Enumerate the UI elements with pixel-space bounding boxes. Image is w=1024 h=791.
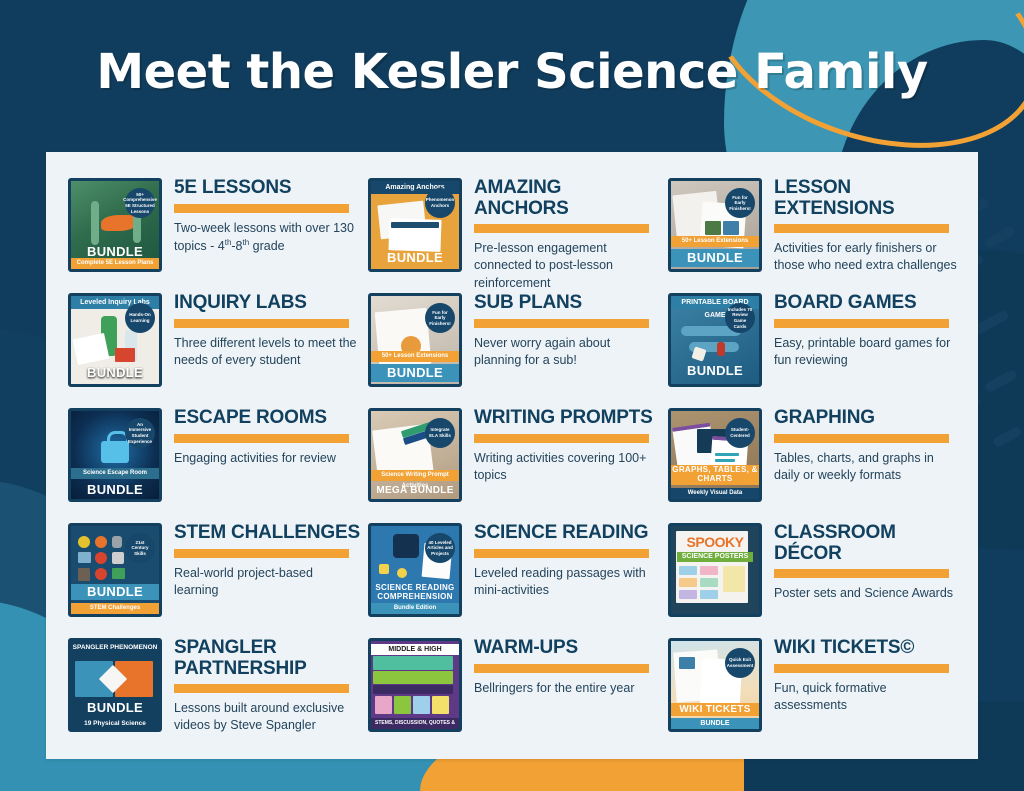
content-card: 50+ Comprehensive 5E Structured Lessons …	[46, 152, 978, 759]
thumbnail-stem-challenges: 21st Century Skills BUNDLE STEM Challeng…	[68, 523, 162, 617]
thumb-badge: 21st Century Skills	[125, 533, 155, 563]
thumb-bottom-strip: 50+ Lesson Extensions	[371, 351, 459, 362]
product-heading: SUB PLANS	[474, 293, 660, 314]
product-heading: SCIENCE READING	[474, 523, 660, 544]
product-item-5e-lessons[interactable]: 50+ Comprehensive 5E Structured Lessons …	[68, 174, 360, 289]
product-heading: SPANGLER PARTNERSHIP	[174, 638, 360, 679]
thumb-bundle-label: BUNDLE	[71, 584, 159, 600]
product-description: Fun, quick formative assessments	[774, 680, 960, 715]
product-description: Never worry again about planning for a s…	[474, 335, 660, 370]
thumb-bottom-strip: STEM Challenges	[71, 603, 159, 614]
thumb-top-strip: SPANGLER PHENOMENON	[71, 641, 159, 654]
product-item-graphing[interactable]: Student-Centered GRAPHS, TABLES, & CHART…	[668, 404, 960, 519]
thumb-bundle-label: BUNDLE	[371, 364, 459, 382]
accent-bar	[174, 549, 349, 558]
product-description: Three different levels to meet the needs…	[174, 335, 360, 370]
product-description: Engaging activities for review	[174, 450, 360, 467]
thumbnail-graphing: Student-Centered GRAPHS, TABLES, & CHART…	[668, 408, 762, 502]
thumb-bottom-strip: Weekly Visual Data	[671, 488, 759, 499]
product-description: Tables, charts, and graphs in daily or w…	[774, 450, 960, 485]
accent-bar	[474, 224, 649, 233]
product-item-writing-prompts[interactable]: Integrate ELA Skills Science Writing Pro…	[368, 404, 660, 519]
accent-bar	[774, 569, 949, 578]
thumbnail-sub-plans: Fun for Early Finishers! 50+ Lesson Exte…	[368, 293, 462, 387]
accent-bar	[474, 434, 649, 443]
product-item-spangler-partnership[interactable]: SPANGLER PHENOMENON BUNDLE 19 Physical S…	[68, 634, 360, 749]
product-description: Activities for early finishers or those …	[774, 240, 960, 275]
thumb-bottom-strip: Bundle Edition	[371, 603, 459, 614]
product-description: Bellringers for the entire year	[474, 680, 660, 697]
thumb-badge: Integrate ELA Skills	[425, 418, 455, 448]
product-description: Poster sets and Science Awards	[774, 585, 960, 602]
thumb-badge: Student-Centered	[725, 418, 755, 448]
accent-bar	[774, 319, 949, 328]
thumb-bundle-label: BUNDLE	[671, 249, 759, 267]
thumbnail-science-reading: 40 Leveled Articles and Projects SCIENCE…	[368, 523, 462, 617]
accent-bar	[774, 434, 949, 443]
thumbnail-classroom-decor: SPOOKY SCIENCE POSTERS	[668, 523, 762, 617]
thumb-badge: Quick Exit Assessment	[725, 648, 755, 678]
accent-bar	[174, 204, 349, 213]
product-item-warm-ups[interactable]: MIDDLE & HIGH STEMS, DISCUSSION, QUOTES …	[368, 634, 660, 749]
product-item-lesson-extensions[interactable]: Fun for Early Finishers! 50+ Lesson Exte…	[668, 174, 960, 289]
product-item-board-games[interactable]: PRINTABLE BOARD GAME Includes 70 Review …	[668, 289, 960, 404]
thumb-bundle-label: GRAPHS, TABLES, & CHARTS	[671, 465, 759, 485]
product-description: Pre-lesson engagement connected to post-…	[474, 240, 660, 292]
product-item-inquiry-labs[interactable]: Leveled Inquiry Labs Hands-On Learning B…	[68, 289, 360, 404]
product-heading: CLASSROOM DÉCOR	[774, 523, 960, 564]
thumb-badge: Includes 70 Review Game Cards	[725, 303, 755, 333]
thumb-bottom-strip: 50+ Lesson Extensions	[671, 236, 759, 247]
thumb-bottom-strip: STEMS, DISCUSSION, QUOTES & MORE	[371, 718, 459, 729]
thumb-bundle-label: BUNDLE	[71, 245, 159, 259]
thumbnail-inquiry-labs: Leveled Inquiry Labs Hands-On Learning B…	[68, 293, 162, 387]
thumbnail-spangler: SPANGLER PHENOMENON BUNDLE 19 Physical S…	[68, 638, 162, 732]
accent-bar	[474, 319, 649, 328]
thumbnail-escape-rooms: An Immersive Student Experience Science …	[68, 408, 162, 502]
accent-bar	[474, 549, 649, 558]
thumbnail-wiki-tickets: Quick Exit Assessment WIKI TICKETS BUNDL…	[668, 638, 762, 732]
thumb-bottom-strip: 19 Physical Science Lessons	[71, 718, 159, 729]
thumb-top-strip: SPOOKY	[671, 535, 759, 550]
accent-bar	[174, 434, 349, 443]
thumb-badge: 40 Leveled Articles and Projects	[425, 533, 455, 563]
thumb-sub-strip: SCIENCE POSTERS	[677, 552, 753, 562]
product-heading: BOARD GAMES	[774, 293, 960, 314]
thumbnail-board-games: PRINTABLE BOARD GAME Includes 70 Review …	[668, 293, 762, 387]
thumbnail-amazing-anchors: Amazing Anchors Phenomenon Anchors BUNDL…	[368, 178, 462, 272]
product-heading: WARM-UPS	[474, 638, 660, 659]
accent-bar	[474, 664, 649, 673]
thumb-bundle-label: SCIENCE READING COMPREHENSION	[371, 583, 459, 601]
thumb-badge: Phenomenon Anchors	[425, 188, 455, 218]
product-heading: WRITING PROMPTS	[474, 408, 660, 429]
thumb-top-strip: MIDDLE & HIGH	[371, 644, 459, 655]
thumbnail-warm-ups: MIDDLE & HIGH STEMS, DISCUSSION, QUOTES …	[368, 638, 462, 732]
thumb-bottom-strip: Science Escape Room	[71, 468, 159, 479]
product-heading: WIKI TICKETS©	[774, 638, 960, 659]
product-heading: STEM CHALLENGES	[174, 523, 360, 544]
accent-bar	[174, 684, 349, 693]
product-grid: 50+ Comprehensive 5E Structured Lessons …	[46, 152, 978, 759]
thumb-badge: An Immersive Student Experience	[125, 418, 155, 448]
thumb-badge: 50+ Comprehensive 5E Structured Lessons	[125, 188, 155, 218]
product-heading: AMAZING ANCHORS	[474, 178, 660, 219]
thumb-bundle-label: BUNDLE	[71, 366, 159, 380]
product-item-amazing-anchors[interactable]: Amazing Anchors Phenomenon Anchors BUNDL…	[368, 174, 660, 289]
product-item-wiki-tickets[interactable]: Quick Exit Assessment WIKI TICKETS BUNDL…	[668, 634, 960, 749]
thumb-badge: Fun for Early Finishers!	[425, 303, 455, 333]
accent-bar	[774, 224, 949, 233]
thumb-bottom-strip: BUNDLE	[671, 718, 759, 729]
product-heading: 5E LESSONS	[174, 178, 360, 199]
product-heading: INQUIRY LABS	[174, 293, 360, 314]
product-item-escape-rooms[interactable]: An Immersive Student Experience Science …	[68, 404, 360, 519]
thumbnail-writing-prompts: Integrate ELA Skills Science Writing Pro…	[368, 408, 462, 502]
product-description: Leveled reading passages with mini-activ…	[474, 565, 660, 600]
page-title: Meet the Kesler Science Family	[0, 44, 1024, 100]
thumb-bundle-label: BUNDLE	[671, 364, 759, 378]
product-heading: ESCAPE ROOMS	[174, 408, 360, 429]
product-item-stem-challenges[interactable]: 21st Century Skills BUNDLE STEM Challeng…	[68, 519, 360, 634]
product-item-science-reading[interactable]: 40 Leveled Articles and Projects SCIENCE…	[368, 519, 660, 634]
thumb-bundle-label: BUNDLE	[371, 251, 459, 265]
product-heading: GRAPHING	[774, 408, 960, 429]
thumb-badge: Hands-On Learning	[125, 303, 155, 333]
product-description: Easy, printable board games for fun revi…	[774, 335, 960, 370]
accent-bar	[174, 319, 349, 328]
product-description: Two-week lessons with over 130 topics - …	[174, 220, 360, 256]
thumb-bundle-label: MEGA BUNDLE	[371, 485, 459, 496]
accent-bar	[774, 664, 949, 673]
product-heading: LESSON EXTENSIONS	[774, 178, 960, 219]
product-description: Real-world project-based learning	[174, 565, 360, 600]
product-description: Writing activities covering 100+ topics	[474, 450, 660, 485]
thumb-bundle-label: BUNDLE	[71, 483, 159, 497]
thumb-bottom-strip: Science Writing Prompt Activities	[371, 470, 459, 481]
product-item-classroom-decor[interactable]: SPOOKY SCIENCE POSTERS CLASSROOM DÉCOR P…	[668, 519, 960, 634]
thumb-bottom-strip: Complete 5E Lesson Plans	[71, 258, 159, 269]
thumbnail-5e-lessons: 50+ Comprehensive 5E Structured Lessons …	[68, 178, 162, 272]
product-description: Lessons built around exclusive videos by…	[174, 700, 360, 735]
thumb-badge: Fun for Early Finishers!	[725, 188, 755, 218]
product-item-sub-plans[interactable]: Fun for Early Finishers! 50+ Lesson Exte…	[368, 289, 660, 404]
thumb-bundle-label: WIKI TICKETS	[671, 703, 759, 716]
thumbnail-lesson-extensions: Fun for Early Finishers! 50+ Lesson Exte…	[668, 178, 762, 272]
thumb-bundle-label: BUNDLE	[71, 701, 159, 715]
